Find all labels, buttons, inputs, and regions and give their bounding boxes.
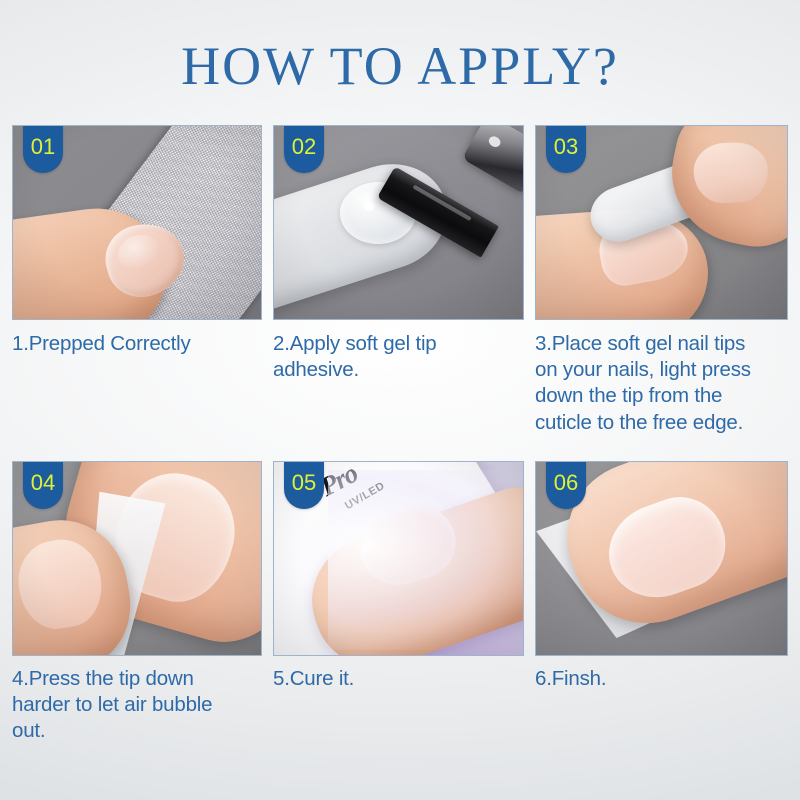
step-badge-4: 04 bbox=[23, 462, 63, 509]
step-badge-5: 05 bbox=[284, 462, 324, 509]
step-caption-1: 1.Prepped Correctly bbox=[12, 320, 262, 357]
step-caption-5: 5.Cure it. bbox=[273, 656, 524, 692]
step-badge-label: 01 bbox=[31, 136, 55, 163]
lamp-glow bbox=[328, 470, 524, 650]
brush-cap-shape bbox=[462, 125, 524, 195]
step-photo-6: 06 bbox=[535, 461, 788, 656]
step-badge-6: 06 bbox=[546, 462, 586, 509]
step-caption-3: 3.Place soft gel nail tips on your nails… bbox=[535, 320, 788, 436]
step-photo-1: 01 bbox=[12, 125, 262, 320]
step-photo-4: 04 bbox=[12, 461, 262, 656]
step-card-5: Pro UV/LED 05 5.Cure it. bbox=[262, 461, 524, 745]
step-photo-2: 02 bbox=[273, 125, 524, 320]
step-badge-label: 05 bbox=[292, 472, 316, 499]
step-caption-6: 6.Finsh. bbox=[535, 656, 788, 692]
steps-grid: 01 1.Prepped Correctly 02 2.Apply soft g… bbox=[0, 125, 800, 745]
step-card-1: 01 1.Prepped Correctly bbox=[0, 125, 262, 436]
step-card-4: 04 4.Press the tip down harder to let ai… bbox=[0, 461, 262, 745]
step-photo-3: 03 bbox=[535, 125, 788, 320]
step-caption-4: 4.Press the tip down harder to let air b… bbox=[12, 656, 262, 745]
steps-row-1: 01 1.Prepped Correctly 02 2.Apply soft g… bbox=[0, 125, 800, 436]
step-badge-label: 02 bbox=[292, 136, 316, 163]
step-badge-label: 06 bbox=[554, 472, 578, 499]
steps-row-2: 04 4.Press the tip down harder to let ai… bbox=[0, 461, 800, 745]
step-card-6: 06 6.Finsh. bbox=[524, 461, 800, 745]
step-caption-2: 2.Apply soft gel tip adhesive. bbox=[273, 320, 524, 383]
step-badge-label: 04 bbox=[31, 472, 55, 499]
title-bar: HOW TO APPLY? bbox=[0, 0, 800, 125]
step-badge-3: 03 bbox=[546, 126, 586, 173]
step-badge-label: 03 bbox=[554, 136, 578, 163]
step-photo-5: Pro UV/LED 05 bbox=[273, 461, 524, 656]
step-card-2: 02 2.Apply soft gel tip adhesive. bbox=[262, 125, 524, 436]
step-card-3: 03 3.Place soft gel nail tips on your na… bbox=[524, 125, 800, 436]
step-badge-2: 02 bbox=[284, 126, 324, 173]
page-title: HOW TO APPLY? bbox=[181, 33, 619, 93]
step-badge-1: 01 bbox=[23, 126, 63, 173]
